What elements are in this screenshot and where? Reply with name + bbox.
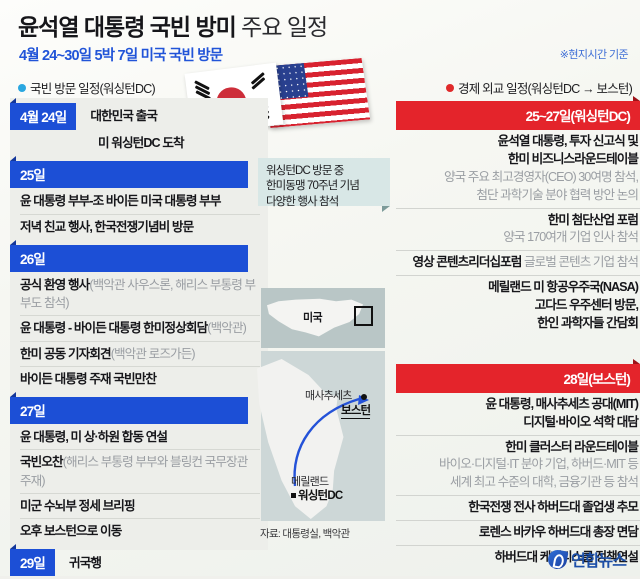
event-divider	[20, 518, 260, 519]
washington-marker-icon	[291, 493, 296, 498]
source-note: 자료: 대통령실, 백악관	[260, 526, 350, 541]
event-text: 공식 환영 행사	[20, 278, 89, 292]
event-subtext: 양국 170여개 기업 인사 참석	[503, 230, 638, 244]
day-events: 공식 환영 행사(백악관 사우스론, 해리스 부통령 부부도 참석)윤 대통령 …	[10, 272, 268, 388]
economic-event: 한국전쟁 전사 하버드대 졸업생 추모	[396, 496, 640, 520]
callout-box: 워싱턴DC 방문 중 한미동맹 70주년 기념 다양한 행사 참석	[258, 158, 390, 206]
economic-schedule-block: 28일(보스턴)윤 대통령, 매사추세츠 공대(MIT)디지털·바이오 석학 대…	[396, 364, 640, 570]
event-text: 로렌스 바카우 하버드대 총장 면담	[479, 525, 638, 539]
day-header-row: 4월 24일대한민국 출국	[10, 103, 268, 130]
day-event: 윤 대통령, 미 상·하원 합동 연설	[20, 428, 260, 446]
event-text: 미군 수뇌부 정세 브리핑	[20, 499, 135, 513]
legend-state-visit-label: 국빈 방문 일정(워싱턴DC)	[30, 78, 155, 97]
left-schedule-panel: 4월 24일대한민국 출국미 워싱턴DC 도착25일윤 대통령 부부-조 바이든…	[10, 98, 268, 550]
economic-event: 윤석열 대통령, 투자 신고식 및한미 비즈니스라운드테이블양국 주요 최고경영…	[396, 130, 640, 208]
legend-economic-diplomacy-label: 경제 외교 일정(워싱턴DC → 보스턴)	[458, 78, 632, 97]
event-text: 윤석열 대통령, 투자 신고식 및한미 비즈니스라운드테이블	[498, 134, 638, 166]
event-subtext: (백악관)	[207, 321, 246, 335]
day-header-row: 25일	[10, 161, 268, 188]
northeast-detail-map: 매사추세츠 보스턴 메릴랜드 워싱턴DC	[261, 351, 385, 521]
day-event: 윤 대통령 - 바이든 대통령 한미정상회담(백악관)	[20, 319, 260, 337]
day-event: 한미 공동 기자회견(백악관 로즈가든)	[20, 345, 260, 363]
schedule-day-block: 27일윤 대통령, 미 상·하원 합동 연설국빈오찬(해리스 부통령 부부와 블…	[10, 397, 268, 540]
yonhap-mark-icon	[547, 548, 569, 570]
event-subtext: 바이오·디지털·IT 분야 기업, 하버드·MIT 등세계 최고 수준의 대학,…	[439, 457, 638, 489]
economic-event: 영상 콘텐츠리더십포럼 글로벌 콘텐츠 기업 참석	[396, 251, 640, 275]
day-chip[interactable]: 26일	[10, 245, 248, 272]
local-time-note: ※현지시간 기준	[560, 46, 628, 62]
map-state-massachusetts: 매사추세츠	[305, 387, 352, 403]
day-event: 미군 수뇌부 정세 브리핑	[20, 497, 260, 515]
legend-red-dot-icon	[446, 84, 454, 92]
event-divider	[20, 315, 260, 316]
economic-schedule-block: 25~27일(워싱턴DC)윤석열 대통령, 투자 신고식 및한미 비즈니스라운드…	[396, 101, 640, 336]
day-event: 대한민국 출국	[90, 107, 157, 125]
schedule-day-block: 26일공식 환영 행사(백악관 사우스론, 해리스 부통령 부부도 참석)윤 대…	[10, 245, 268, 388]
map-city-washington: 워싱턴DC	[298, 487, 342, 503]
schedule-day-block: 29일귀국행	[10, 549, 268, 579]
yonhap-logo: 연합뉴스	[548, 547, 626, 571]
map-city-boston: 보스턴	[341, 402, 370, 419]
event-subtext: (백악관 로즈가든)	[111, 347, 195, 361]
schedule-day-block: 4월 24일대한민국 출국미 워싱턴DC 도착	[10, 103, 268, 152]
event-text: 저녁 친교 행사, 한국전쟁기념비 방문	[20, 220, 193, 234]
day-events: 미 워싱턴DC 도착	[10, 130, 268, 152]
day-event: 국빈오찬(해리스 부통령 부부와 블링컨 국무장관 주재)	[20, 453, 260, 490]
event-divider	[20, 214, 260, 215]
economic-event: 한미 클러스터 라운드테이블바이오·디지털·IT 분야 기업, 하버드·MIT …	[396, 436, 640, 496]
infographic-canvas: 윤석열 대통령 국빈 방미 주요 일정 4월 24~30일 5박 7일 미국 국…	[0, 0, 640, 579]
economic-day-chip[interactable]: 28일(보스턴)	[396, 364, 640, 393]
event-divider	[20, 493, 260, 494]
day-chip[interactable]: 27일	[10, 397, 248, 424]
event-text: 윤 대통령, 미 상·하원 합동 연설	[20, 430, 167, 444]
day-event: 미 워싱턴DC 도착	[98, 134, 260, 152]
day-event: 공식 환영 행사(백악관 사우스론, 해리스 부통령 부부도 참석)	[20, 276, 260, 313]
economic-event: 로렌스 바카우 하버드대 총장 면담	[396, 521, 640, 545]
legend-blue-dot-icon	[18, 84, 26, 92]
yonhap-logo-text: 연합뉴스	[571, 547, 626, 571]
day-header-row: 27일	[10, 397, 268, 424]
economic-day-chip[interactable]: 25~27일(워싱턴DC)	[396, 101, 640, 130]
day-events: 윤 대통령 부부-조 바이든 미국 대통령 부부저녁 친교 행사, 한국전쟁기념…	[10, 188, 268, 236]
event-text: 미 워싱턴DC 도착	[98, 136, 184, 150]
economic-event: 한미 첨단산업 포럼양국 170여개 기업 인사 참석	[396, 209, 640, 251]
day-event: 저녁 친교 행사, 한국전쟁기념비 방문	[20, 218, 260, 236]
event-text: 윤 대통령 - 바이든 대통령 한미정상회담	[20, 321, 207, 335]
map-country-label: 미국	[303, 309, 322, 325]
day-chip[interactable]: 29일	[10, 549, 55, 576]
map-container: 미국 매사추세츠 보스턴 메릴랜드 워싱턴DC 자료: 대통령실, 백악관	[256, 288, 392, 550]
event-subtext: 양국 주요 최고경영자(CEO) 30여명 참석,첨단 과학기술 분야 협력 방…	[444, 170, 638, 202]
day-header-row: 29일귀국행	[10, 549, 268, 576]
event-text: 한미 공동 기자회견	[20, 347, 111, 361]
page-title-light: 주요 일정	[241, 14, 327, 40]
legend-economic-diplomacy: 경제 외교 일정(워싱턴DC → 보스턴)	[446, 78, 632, 97]
schedule-day-block: 25일윤 대통령 부부-조 바이든 미국 대통령 부부저녁 친교 행사, 한국전…	[10, 161, 268, 236]
callout-line-1: 워싱턴DC 방문 중	[266, 164, 382, 179]
day-event: 바이든 대통령 주재 국빈만찬	[20, 370, 260, 388]
economic-event: 메릴랜드 미 항공우주국(NASA)고다드 우주센터 방문,한인 과학자들 간담…	[396, 276, 640, 336]
page-title: 윤석열 대통령 국빈 방미 주요 일정	[18, 8, 327, 42]
callout-line-2: 한미동맹 70주년 기념	[266, 179, 382, 194]
event-text: 메릴랜드 미 항공우주국(NASA)고다드 우주센터 방문,한인 과학자들 간담…	[488, 280, 638, 330]
event-text: 오후 보스턴으로 이동	[20, 524, 121, 538]
economic-event: 윤 대통령, 매사추세츠 공대(MIT)디지털·바이오 석학 대담	[396, 393, 640, 435]
day-event: 귀국행	[69, 554, 101, 572]
event-text: 한미 첨단산업 포럼	[548, 213, 638, 227]
event-text: 윤 대통령 부부-조 바이든 미국 대통령 부부	[20, 194, 221, 208]
map-focus-box-icon	[354, 306, 373, 326]
callout-line-3: 다양한 행사 참석	[266, 195, 382, 210]
day-chip[interactable]: 4월 24일	[10, 103, 76, 130]
event-text: 국빈오찬	[20, 455, 63, 469]
page-title-bold: 윤석열 대통령 국빈 방미	[18, 14, 236, 40]
day-event: 윤 대통령 부부-조 바이든 미국 대통령 부부	[20, 192, 260, 210]
day-header-row: 26일	[10, 245, 268, 272]
event-divider	[20, 449, 260, 450]
boston-marker-icon	[361, 394, 367, 400]
event-divider	[20, 341, 260, 342]
event-text: 윤 대통령, 매사추세츠 공대(MIT)디지털·바이오 석학 대담	[485, 397, 638, 429]
day-event: 오후 보스턴으로 이동	[20, 522, 260, 540]
event-subtext: 글로벌 콘텐츠 기업 참석	[521, 255, 638, 269]
event-text: 한미 클러스터 라운드테이블	[505, 440, 638, 454]
event-text: 영상 콘텐츠리더십포럼	[413, 255, 522, 269]
day-chip[interactable]: 25일	[10, 161, 248, 188]
event-text: 바이든 대통령 주재 국빈만찬	[20, 372, 156, 386]
legend-state-visit: 국빈 방문 일정(워싱턴DC)	[18, 78, 155, 97]
right-schedule-panel: 25~27일(워싱턴DC)윤석열 대통령, 투자 신고식 및한미 비즈니스라운드…	[396, 98, 640, 570]
event-text: 한국전쟁 전사 하버드대 졸업생 추모	[468, 500, 638, 514]
us-overview-map: 미국	[261, 288, 385, 348]
day-events: 윤 대통령, 미 상·하원 합동 연설국빈오찬(해리스 부통령 부부와 블링컨 …	[10, 424, 268, 540]
event-divider	[20, 366, 260, 367]
